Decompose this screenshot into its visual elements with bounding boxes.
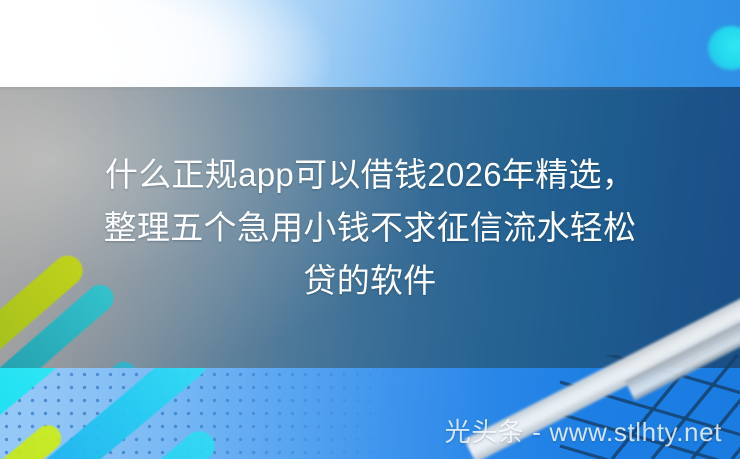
cyan-dot-icon — [708, 26, 740, 70]
article-cover-image: 什么正规app可以借钱2026年精选， 整理五个急用小钱不求征信流水轻松 贷的软… — [0, 0, 740, 459]
cover-title: 什么正规app可以借钱2026年精选， 整理五个急用小钱不求征信流水轻松 贷的软… — [0, 148, 740, 307]
site-watermark: 光头条 - www.stlhty.net — [445, 417, 722, 447]
sky-gradient-strip — [0, 0, 740, 87]
